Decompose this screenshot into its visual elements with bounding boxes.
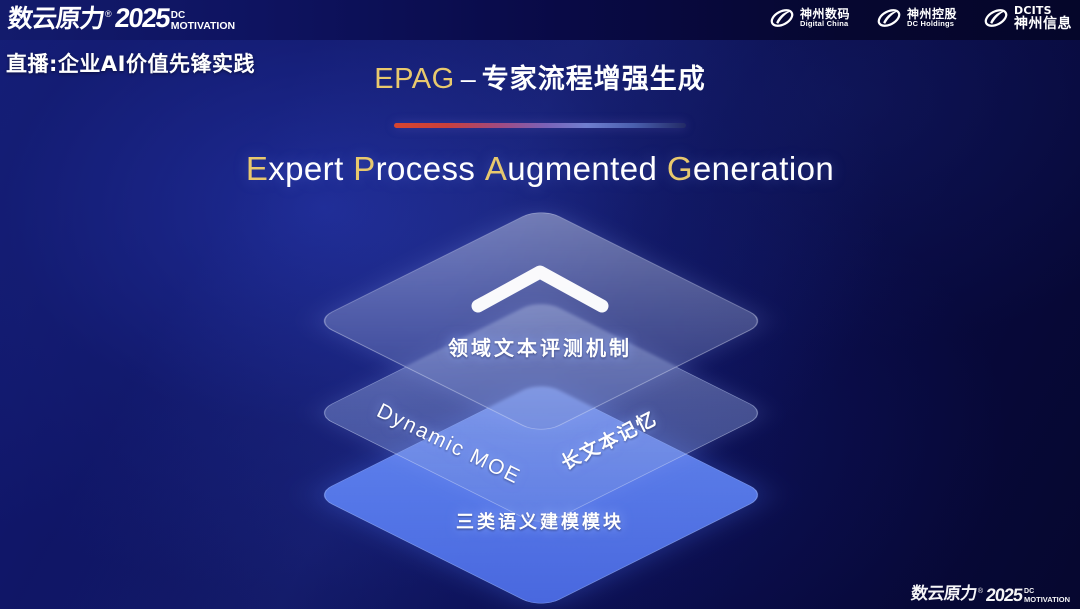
- expanded-title-initial: P: [353, 150, 375, 187]
- partner-name-en: DCITS: [1014, 5, 1072, 17]
- brand-year: 2025: [113, 5, 170, 32]
- partner-logo-item: 神州控股 DC Holdings: [876, 5, 957, 31]
- watermark-year: 2025: [985, 586, 1023, 604]
- partner-name-en: Digital China: [800, 20, 850, 28]
- diagram-label-bottom: 三类语义建模模块: [0, 508, 1080, 534]
- page-title-dash: –: [455, 64, 482, 94]
- partner-logo-item: 神州数码 Digital China: [769, 5, 850, 31]
- watermark-name-cn: 数云原力: [910, 586, 977, 603]
- swirl-logo-icon: [876, 5, 902, 31]
- swirl-logo-icon: [983, 5, 1009, 31]
- brand-motivation-label: MOTIVATION: [171, 21, 235, 31]
- partner-name-en: DC Holdings: [907, 20, 957, 28]
- expanded-title-rest: xpert: [268, 150, 343, 187]
- expanded-title-initial: E: [246, 150, 268, 187]
- expanded-title-rest: rocess: [376, 150, 476, 187]
- swirl-logo-icon: [769, 5, 795, 31]
- partner-name-block: DCITS 神州信息: [1014, 5, 1072, 31]
- watermark-dc-motivation: DC MOTIVATION: [1024, 589, 1070, 603]
- expanded-title: Expert Process Augmented Generation: [0, 150, 1080, 188]
- partner-name-block: 神州控股 DC Holdings: [907, 8, 957, 28]
- brand-registered-mark: ®: [105, 9, 112, 19]
- expanded-title-initial: G: [667, 150, 693, 187]
- partner-name-cn: 神州信息: [1014, 17, 1072, 32]
- page-title-cn: 专家流程增强生成: [482, 64, 706, 95]
- expanded-title-initial: A: [485, 150, 507, 187]
- diagram-label-top: 领域文本评测机制: [0, 332, 1080, 361]
- brand-logo: 数云原力 ® 2025 DC MOTIVATION: [8, 4, 235, 31]
- gradient-divider: [394, 123, 686, 128]
- footer-watermark: 数云原力 ® 2025 DC MOTIVATION: [911, 585, 1070, 603]
- brand-name-cn: 数云原力: [7, 6, 106, 31]
- partner-name-block: 神州数码 Digital China: [800, 8, 850, 28]
- live-broadcast-label: 直播:企业AI价值先锋实践: [6, 48, 255, 78]
- partner-logo-group: 神州数码 Digital China 神州控股 DC Holdings DCIT…: [769, 5, 1072, 31]
- slide-canvas: 数云原力 ® 2025 DC MOTIVATION 直播:企业AI价值先锋实践 …: [0, 0, 1080, 609]
- watermark-motivation-label: MOTIVATION: [1024, 596, 1070, 603]
- brand-dc-motivation: DC MOTIVATION: [171, 11, 235, 31]
- page-title-acronym: EPAG: [374, 63, 454, 95]
- expanded-title-rest: eneration: [693, 150, 834, 187]
- partner-logo-item: DCITS 神州信息: [983, 5, 1072, 31]
- watermark-registered-mark: ®: [978, 588, 983, 595]
- expanded-title-rest: ugmented: [507, 150, 657, 187]
